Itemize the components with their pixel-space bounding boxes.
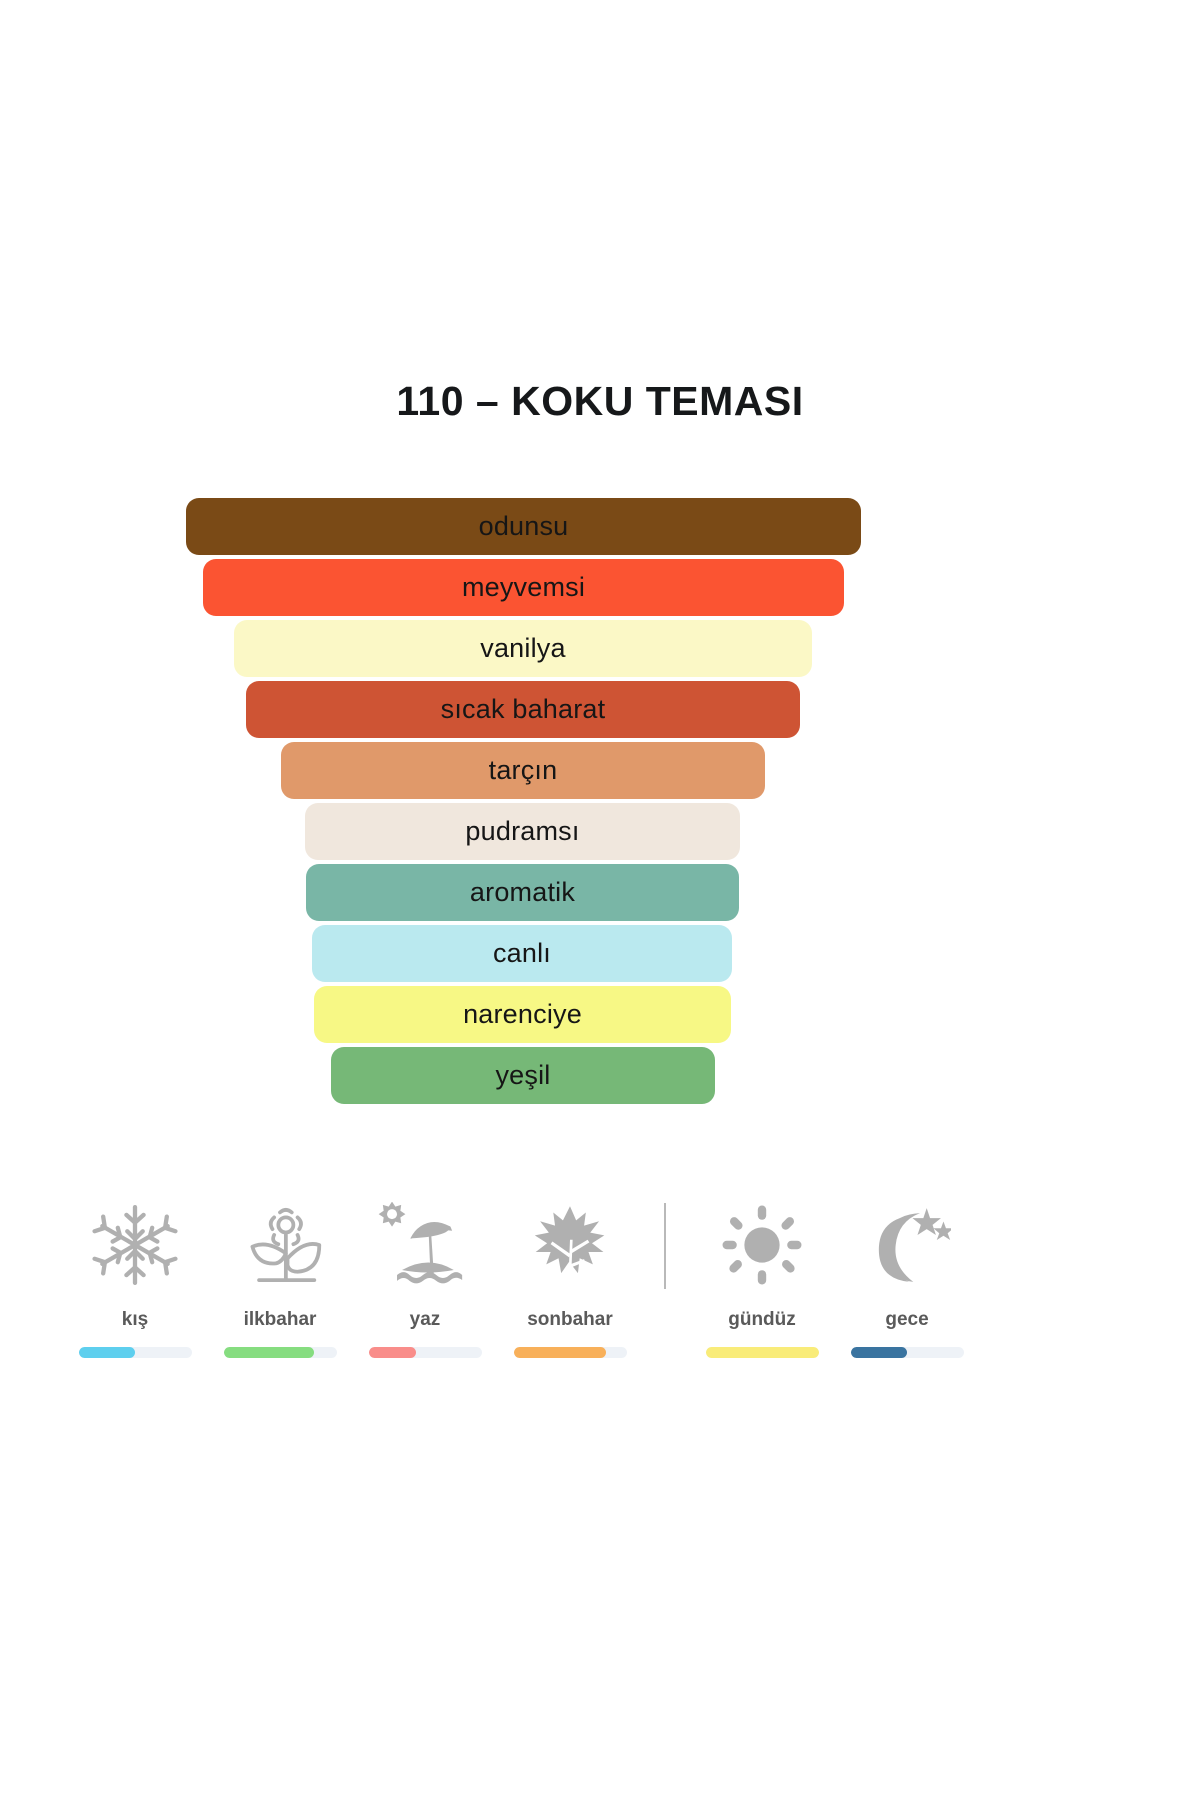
funnel-bar-label: yeşil — [495, 1060, 550, 1091]
legend-label: gündüz — [687, 1309, 837, 1331]
funnel-bar-yesil[interactable]: yeşil — [331, 1047, 715, 1104]
funnel-row: meyvemsi — [0, 559, 1200, 620]
legend-label: ilkbahar — [205, 1309, 355, 1331]
funnel-row: pudramsı — [0, 803, 1200, 864]
legend-progress-track[interactable] — [79, 1347, 192, 1358]
legend-label: sonbahar — [495, 1309, 645, 1331]
legend-progress-track[interactable] — [706, 1347, 819, 1358]
scent-theme-funnel: odunsu meyvemsi vanilya sıcak baharat ta… — [0, 498, 1200, 1108]
moon-icon — [832, 1195, 982, 1295]
legend-item-sonbahar[interactable]: sonbahar — [495, 1195, 645, 1358]
funnel-row: tarçın — [0, 742, 1200, 803]
poster-canvas: 110 – KOKU TEMASI odunsu meyvemsi vanily… — [0, 0, 1200, 1800]
funnel-bar-canli[interactable]: canlı — [312, 925, 732, 982]
legend-label: kış — [60, 1309, 210, 1331]
funnel-bar-narenciye[interactable]: narenciye — [314, 986, 731, 1043]
funnel-bar-label: narenciye — [463, 999, 582, 1030]
funnel-bar-label: pudramsı — [465, 816, 579, 847]
funnel-bar-label: tarçın — [489, 755, 558, 786]
funnel-bar-tarcin[interactable]: tarçın — [281, 742, 765, 799]
legend-label: yaz — [350, 1309, 500, 1331]
funnel-bar-label: sıcak baharat — [441, 694, 606, 725]
legend-progress-fill — [706, 1347, 819, 1358]
funnel-row: sıcak baharat — [0, 681, 1200, 742]
page-title: 110 – KOKU TEMASI — [0, 378, 1200, 425]
leaf-icon — [495, 1195, 645, 1295]
funnel-row: aromatik — [0, 864, 1200, 925]
legend-progress-fill — [851, 1347, 908, 1358]
legend-progress-track[interactable] — [851, 1347, 964, 1358]
legend-progress-fill — [224, 1347, 314, 1358]
funnel-bar-sicak-baharat[interactable]: sıcak baharat — [246, 681, 800, 738]
funnel-bar-meyvemsi[interactable]: meyvemsi — [203, 559, 844, 616]
funnel-row: yeşil — [0, 1047, 1200, 1108]
legend-label: gece — [832, 1309, 982, 1331]
funnel-bar-label: vanilya — [480, 633, 565, 664]
legend-item-yaz[interactable]: yaz — [350, 1195, 500, 1358]
funnel-bar-pudramsi[interactable]: pudramsı — [305, 803, 740, 860]
funnel-bar-label: aromatik — [470, 877, 575, 908]
legend-item-kis[interactable]: kış — [60, 1195, 210, 1358]
beach-icon — [350, 1195, 500, 1295]
funnel-row: vanilya — [0, 620, 1200, 681]
funnel-row: odunsu — [0, 498, 1200, 559]
season-legend: kış — [60, 1195, 1060, 1425]
funnel-bar-vanilya[interactable]: vanilya — [234, 620, 812, 677]
legend-item-gece[interactable]: gece — [832, 1195, 982, 1358]
funnel-bar-odunsu[interactable]: odunsu — [186, 498, 861, 555]
legend-progress-track[interactable] — [514, 1347, 627, 1358]
legend-progress-fill — [79, 1347, 136, 1358]
funnel-row: canlı — [0, 925, 1200, 986]
funnel-row: narenciye — [0, 986, 1200, 1047]
flower-icon — [205, 1195, 355, 1295]
funnel-bar-label: canlı — [493, 938, 551, 969]
legend-progress-track[interactable] — [369, 1347, 482, 1358]
legend-progress-fill — [369, 1347, 416, 1358]
sun-icon — [687, 1195, 837, 1295]
legend-item-ilkbahar[interactable]: ilkbahar — [205, 1195, 355, 1358]
funnel-bar-label: odunsu — [479, 511, 569, 542]
snowflake-icon — [60, 1195, 210, 1295]
funnel-bar-aromatik[interactable]: aromatik — [306, 864, 739, 921]
funnel-bar-label: meyvemsi — [462, 572, 585, 603]
legend-progress-track[interactable] — [224, 1347, 337, 1358]
legend-divider — [664, 1203, 666, 1289]
legend-item-gunduz[interactable]: gündüz — [687, 1195, 837, 1358]
legend-progress-fill — [514, 1347, 607, 1358]
